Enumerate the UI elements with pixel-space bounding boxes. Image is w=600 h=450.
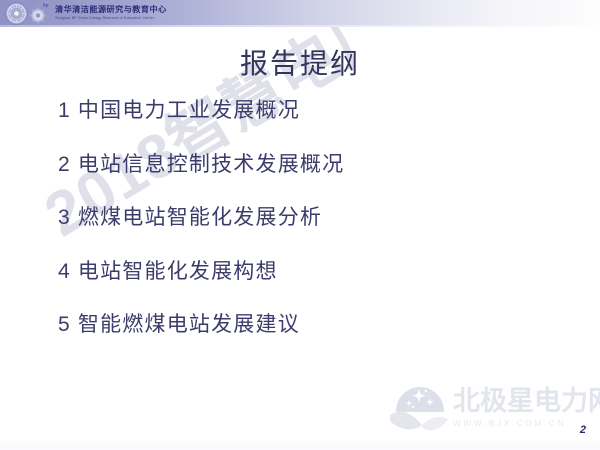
tsinghua-seal-icon bbox=[5, 2, 28, 25]
list-item-number: 5 bbox=[58, 310, 71, 340]
list-item[interactable]: 3燃煤电站智能化发展分析 bbox=[58, 203, 528, 257]
list-item-label: 电站智能化发展构想 bbox=[78, 260, 278, 283]
organization-logo: bp bbox=[5, 1, 167, 25]
page-title: 报告提纲 bbox=[0, 42, 600, 82]
org-name-en: Tsinghua BP Clean Energy Research & Educ… bbox=[55, 17, 167, 20]
bjx-url: WWW.BJX.COM.CN bbox=[453, 418, 600, 428]
list-item-label: 中国电力工业发展概况 bbox=[78, 99, 300, 122]
bjx-star-swoosh-icon bbox=[388, 381, 450, 435]
list-item-label: 智能燃煤电站发展建议 bbox=[78, 313, 300, 336]
list-item[interactable]: 2电站信息控制技术发展概况 bbox=[58, 150, 528, 204]
header-divider bbox=[0, 25, 600, 27]
list-item[interactable]: 4电站智能化发展构想 bbox=[58, 257, 528, 311]
list-item-number: 4 bbox=[58, 257, 71, 287]
list-item-number: 2 bbox=[58, 150, 71, 180]
list-item-label: 燃煤电站智能化发展分析 bbox=[78, 206, 322, 229]
org-name-cn: 清华清洁能源研究与教育中心 bbox=[55, 6, 167, 14]
list-item[interactable]: 5智能燃煤电站发展建议 bbox=[58, 310, 528, 364]
list-item-label: 电站信息控制技术发展概况 bbox=[78, 153, 344, 176]
list-item-number: 3 bbox=[58, 203, 71, 233]
bp-gear-icon: bp bbox=[28, 2, 51, 25]
outline-list: 1中国电力工业发展概况 2电站信息控制技术发展概况 3燃煤电站智能化发展分析 4… bbox=[58, 96, 528, 364]
bjx-watermark: 北极星电力网 WWW.BJX.COM.CN bbox=[388, 379, 596, 437]
bottom-band bbox=[0, 441, 600, 450]
presentation-slide: 2018智慧电厂（第一期） bbox=[0, 0, 600, 450]
page-number: 2 bbox=[580, 424, 586, 436]
bjx-name-cn: 北极星电力网 bbox=[453, 388, 600, 415]
svg-text:bp: bp bbox=[43, 2, 49, 7]
list-item[interactable]: 1中国电力工业发展概况 bbox=[58, 96, 528, 150]
list-item-number: 1 bbox=[58, 96, 71, 126]
